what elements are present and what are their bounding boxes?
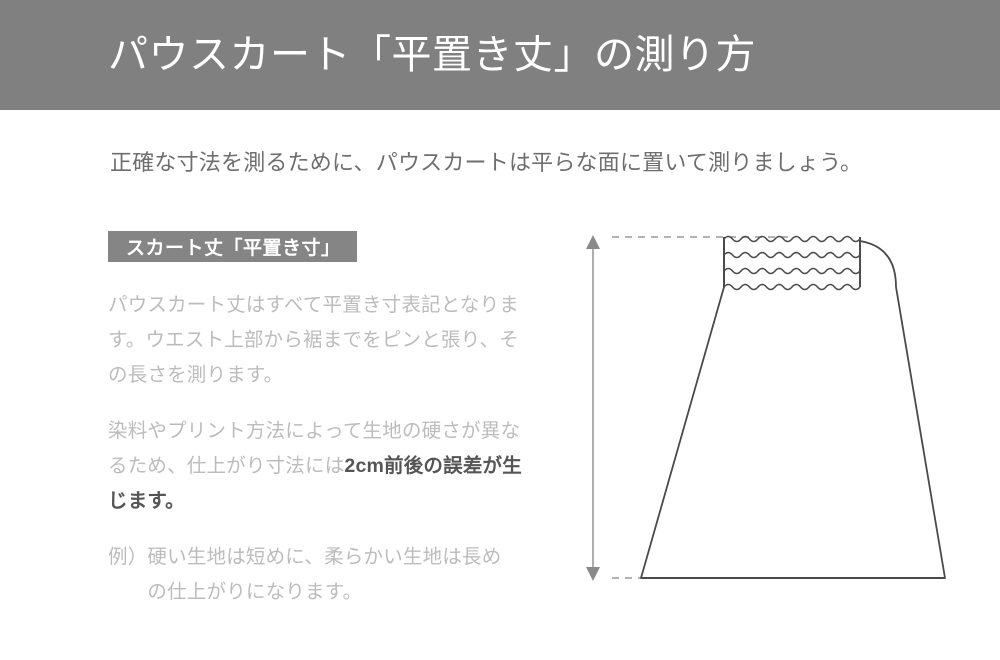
example-text: 硬い生地は短めに、柔らかい生地は長めの仕上がりになります。 [147,540,505,610]
body-paragraph-3: 例）硬い生地は短めに、柔らかい生地は長めの仕上がりになります。 [108,540,528,610]
header-band: パウスカート「平置き丈」の測り方 [0,0,1000,110]
example-label: 例） [108,540,147,575]
page-title: パウスカート「平置き丈」の測り方 [108,31,756,79]
page-root: パウスカート「平置き丈」の測り方 正確な寸法を測るために、パウスカートは平らな面… [0,0,1000,660]
measure-arrow-head-top [586,235,600,249]
skirt-diagram-svg [560,210,990,610]
body-paragraph-1: パウスカート丈はすべて平置き寸表記となります。ウエスト上部から裾までをピンと張り… [108,288,528,393]
section-badge: スカート丈「平置き寸」 [108,231,357,262]
skirt-diagram [560,210,990,610]
body-text-column: パウスカート丈はすべて平置き寸表記となります。ウエスト上部から裾までをピンと張り… [108,288,528,610]
skirt-outline [641,241,945,578]
body-paragraph-2: 染料やプリント方法によって生地の硬さが異なるため、仕上がり寸法には2cm前後の誤… [108,414,528,519]
waistband-fill [725,238,859,286]
intro-text: 正確な寸法を測るために、パウスカートは平らな面に置いて測りましょう。 [110,148,862,179]
measure-arrow-head-bottom [586,567,600,581]
